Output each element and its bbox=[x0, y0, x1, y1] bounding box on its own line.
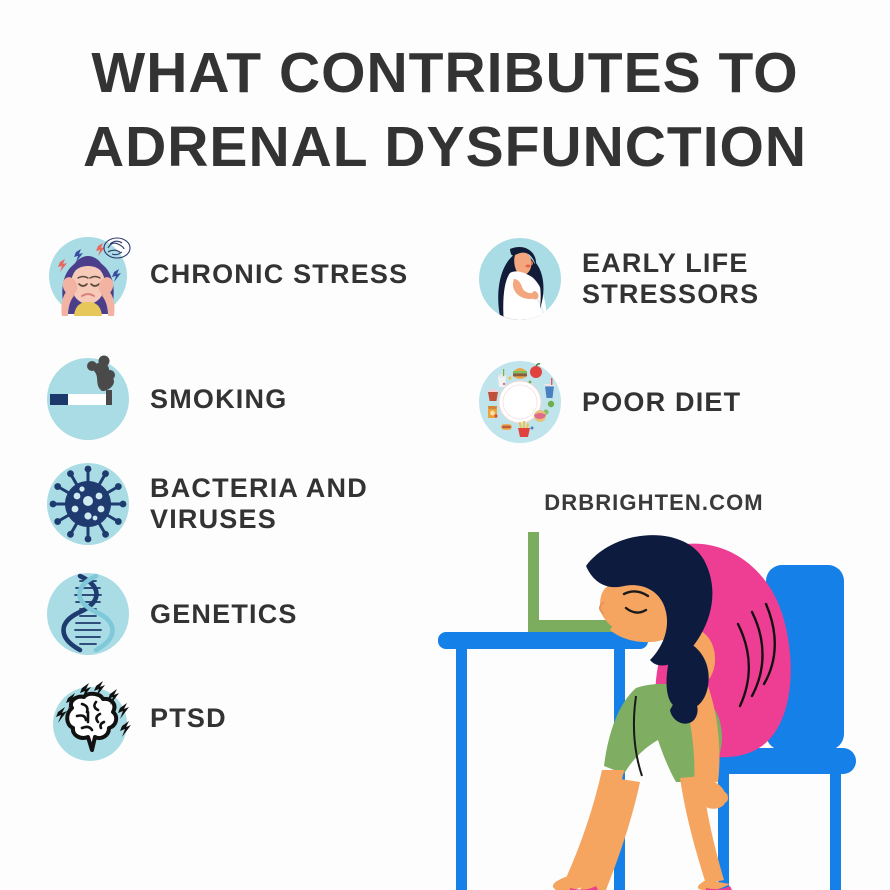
list-item-ptsd: PTSD bbox=[42, 672, 227, 764]
list-item-genetics: GENETICS bbox=[42, 568, 298, 660]
dna-helix-icon bbox=[42, 568, 134, 660]
brand-url: DRBRIGHTEN.COM bbox=[524, 490, 784, 516]
pregnant-woman-icon bbox=[474, 233, 566, 325]
list-item-label: CHRONIC STRESS bbox=[150, 259, 408, 290]
infographic-canvas: WHAT CONTRIBUTES TO ADRENAL DYSFUNCTION bbox=[0, 0, 890, 890]
list-item-smoking: SMOKING bbox=[42, 353, 287, 445]
stressed-woman-icon bbox=[42, 228, 134, 320]
list-item-chronic-stress: CHRONIC STRESS bbox=[42, 228, 408, 320]
list-item-label: POOR DIET bbox=[582, 387, 741, 418]
brain-lightning-icon bbox=[42, 672, 134, 764]
list-item-label: EARLY LIFE STRESSORS bbox=[582, 248, 759, 310]
list-item-bacteria-and-viruses: BACTERIA AND VIRUSES bbox=[42, 458, 368, 550]
page-title: WHAT CONTRIBUTES TO ADRENAL DYSFUNCTION bbox=[0, 36, 890, 184]
list-item-poor-diet: POOR DIET bbox=[474, 356, 741, 448]
title-line-2: ADRENAL DYSFUNCTION bbox=[0, 110, 890, 184]
list-item-label: PTSD bbox=[150, 703, 227, 734]
cigarette-icon bbox=[42, 353, 134, 445]
junk-food-plate-icon bbox=[474, 356, 566, 448]
list-item-label: BACTERIA AND VIRUSES bbox=[150, 473, 368, 535]
virus-icon bbox=[42, 458, 134, 550]
list-item-label: SMOKING bbox=[150, 384, 287, 415]
list-item-label: GENETICS bbox=[150, 599, 298, 630]
title-line-1: WHAT CONTRIBUTES TO bbox=[0, 36, 890, 110]
exhausted-woman-at-desk-illustration bbox=[418, 520, 890, 890]
list-item-early-life-stressors: EARLY LIFE STRESSORS bbox=[474, 233, 759, 325]
